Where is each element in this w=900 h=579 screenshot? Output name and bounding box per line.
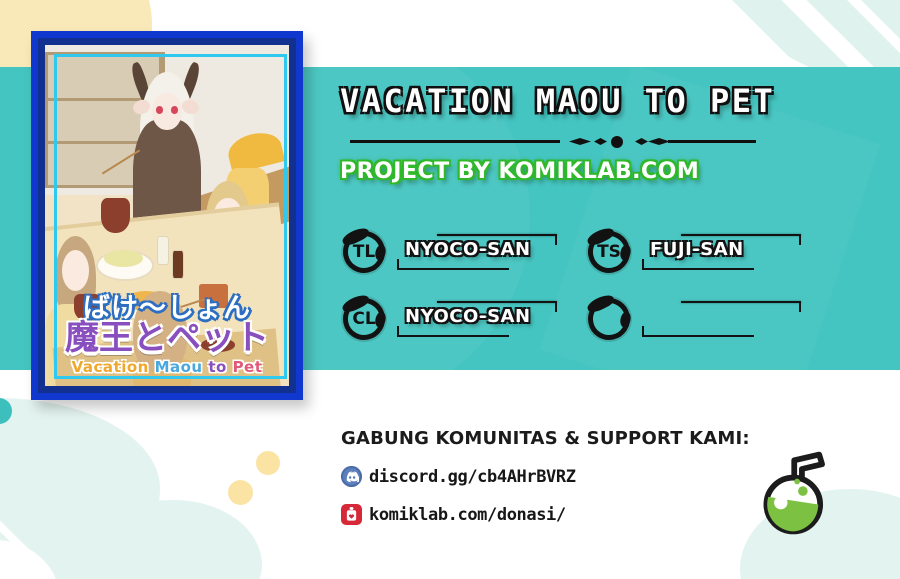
ornamental-divider <box>340 135 756 147</box>
credit-bracket-cl: NYOCO-SAN <box>397 299 557 339</box>
credit-row-tl: TL NYOCO-SAN <box>341 218 586 285</box>
donate-icon <box>341 504 362 525</box>
page-title: VACATION MAOU TO PET <box>340 85 880 117</box>
donate-link-label: komiklab.com/donasi/ <box>369 505 566 525</box>
cover-image: ばけ〜しょん 魔王とペット Vacation Maou to Pet <box>31 31 303 400</box>
credit-bracket-empty <box>642 299 801 339</box>
footer-heading: GABUNG KOMUNITAS & SUPPORT KAMI: <box>341 428 771 449</box>
romaji-word-3: to <box>208 358 226 376</box>
credit-role-cl: CL <box>341 296 387 342</box>
credit-bracket-tl: NYOCO-SAN <box>397 232 557 272</box>
cover-logo-romaji: Vacation Maou to Pet <box>53 358 281 376</box>
title-block: VACATION MAOU TO PET PROJECT BY KOMIKLAB… <box>340 85 880 184</box>
divider-line-short <box>668 140 756 143</box>
decor-dot-yellow-2 <box>256 451 280 475</box>
footer-link-discord[interactable]: discord.gg/cb4AHrBVRZ <box>341 466 771 487</box>
cover-title-logo: ばけ〜しょん 魔王とペット Vacation Maou to Pet <box>53 295 281 376</box>
credits-grid: TL NYOCO-SAN TS FUJI-SAN CL <box>341 218 801 352</box>
footer-link-donate[interactable]: komiklab.com/donasi/ <box>341 504 771 525</box>
credit-role-tl: TL <box>341 229 387 275</box>
discord-icon <box>341 466 362 487</box>
credit-name-cl: NYOCO-SAN <box>405 306 531 327</box>
credit-name-tl: NYOCO-SAN <box>405 239 531 260</box>
romaji-word-2: Maou <box>155 358 203 376</box>
flask-icon <box>752 445 848 541</box>
credit-row-cl: CL NYOCO-SAN <box>341 285 586 352</box>
divider-diamond-4 <box>648 138 670 145</box>
credit-row-ts: TS FUJI-SAN <box>586 218 801 285</box>
cover-artwork: ばけ〜しょん 魔王とペット Vacation Maou to Pet <box>45 45 289 386</box>
romaji-word-4: Pet <box>233 358 263 376</box>
credit-row-empty <box>586 285 801 352</box>
romaji-word-1: Vacation <box>72 358 149 376</box>
divider-line-long <box>350 140 560 143</box>
cover-logo-line2: 魔王とペット <box>53 321 281 356</box>
credits-banner: ばけ〜しょん 魔王とペット Vacation Maou to Pet VACAT… <box>0 0 900 579</box>
stamp-circle-icon: TS <box>586 229 632 275</box>
footer-block: GABUNG KOMUNITAS & SUPPORT KAMI: discord… <box>341 428 771 525</box>
discord-link-label: discord.gg/cb4AHrBVRZ <box>369 467 576 487</box>
project-credit: PROJECT BY KOMIKLAB.COM <box>340 159 880 184</box>
cover-frame: ばけ〜しょん 魔王とペット Vacation Maou to Pet <box>31 31 303 400</box>
divider-dot <box>611 136 623 148</box>
stamp-circle-icon: TL <box>341 229 387 275</box>
credit-role-ts: TS <box>586 229 632 275</box>
divider-diamond-1 <box>569 138 591 145</box>
credit-role-empty <box>586 296 632 342</box>
credit-bracket-ts: FUJI-SAN <box>642 232 801 272</box>
divider-diamond-3 <box>635 138 648 145</box>
divider-diamond-2 <box>594 138 607 145</box>
stamp-circle-icon: CL <box>341 296 387 342</box>
stamp-circle-icon <box>586 296 632 342</box>
credit-name-ts: FUJI-SAN <box>650 239 744 260</box>
decor-dot-yellow-1 <box>228 480 253 505</box>
